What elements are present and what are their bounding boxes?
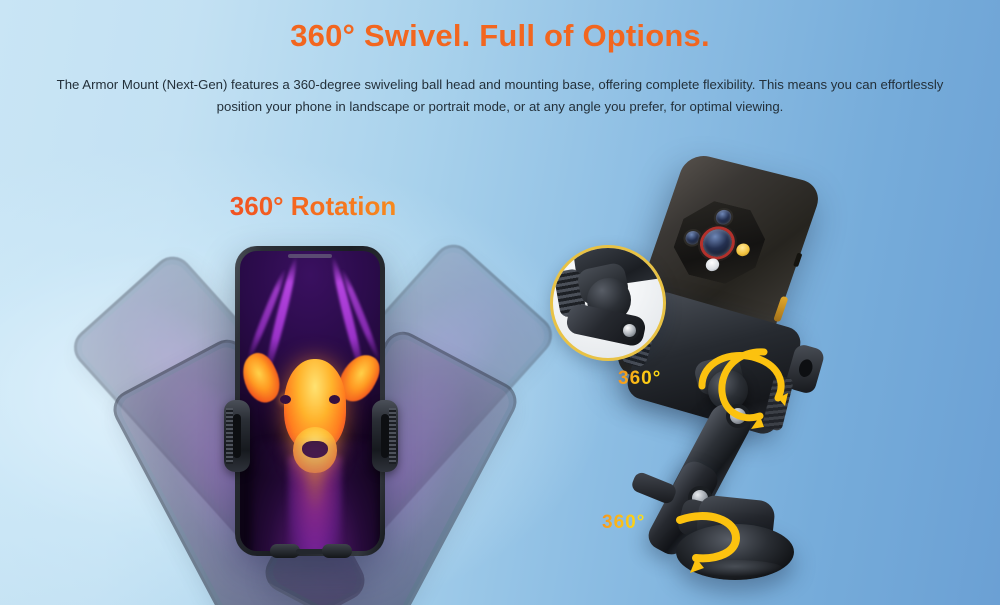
camera-lens-main: [699, 226, 735, 259]
led-light-icon: [704, 257, 721, 272]
main-phone: [235, 246, 385, 556]
wallpaper-glow: [252, 441, 378, 551]
deer-eye: [329, 395, 340, 404]
suction-cup-base: [676, 524, 794, 580]
page-title: 360° Swivel. Full of Options.: [0, 18, 1000, 54]
deer-wallpaper: [240, 251, 380, 551]
mount-assembly-illustration: 360° 360°: [540, 160, 960, 590]
product-feature-banner: 360° Swivel. Full of Options. The Armor …: [0, 0, 1000, 605]
base-rotation-badge: 360°: [602, 512, 645, 534]
phone-screen: [240, 251, 380, 551]
holder-bottom-clamp: [270, 544, 352, 560]
camera-lens-secondary: [684, 229, 702, 246]
phone-rotation-illustration: [150, 238, 490, 568]
holder-grip-arm-left: [224, 400, 250, 472]
holder-grip-arm-right: [372, 400, 398, 472]
inset-arm: [565, 302, 648, 348]
rotation-label: 360° Rotation: [208, 191, 418, 222]
deer-eye: [280, 395, 291, 404]
pivot-screw: [730, 408, 746, 424]
camera-lens-secondary: [714, 208, 733, 226]
ball-joint-closeup-inset: [550, 245, 666, 361]
ball-rotation-badge: 360°: [618, 368, 661, 390]
clamp-foot: [322, 544, 352, 558]
inset-pivot-screw: [623, 324, 636, 337]
description-text: The Armor Mount (Next-Gen) features a 36…: [50, 74, 950, 118]
led-flash-icon: [735, 242, 752, 257]
side-port: [793, 253, 802, 267]
locking-lever: [630, 470, 678, 505]
